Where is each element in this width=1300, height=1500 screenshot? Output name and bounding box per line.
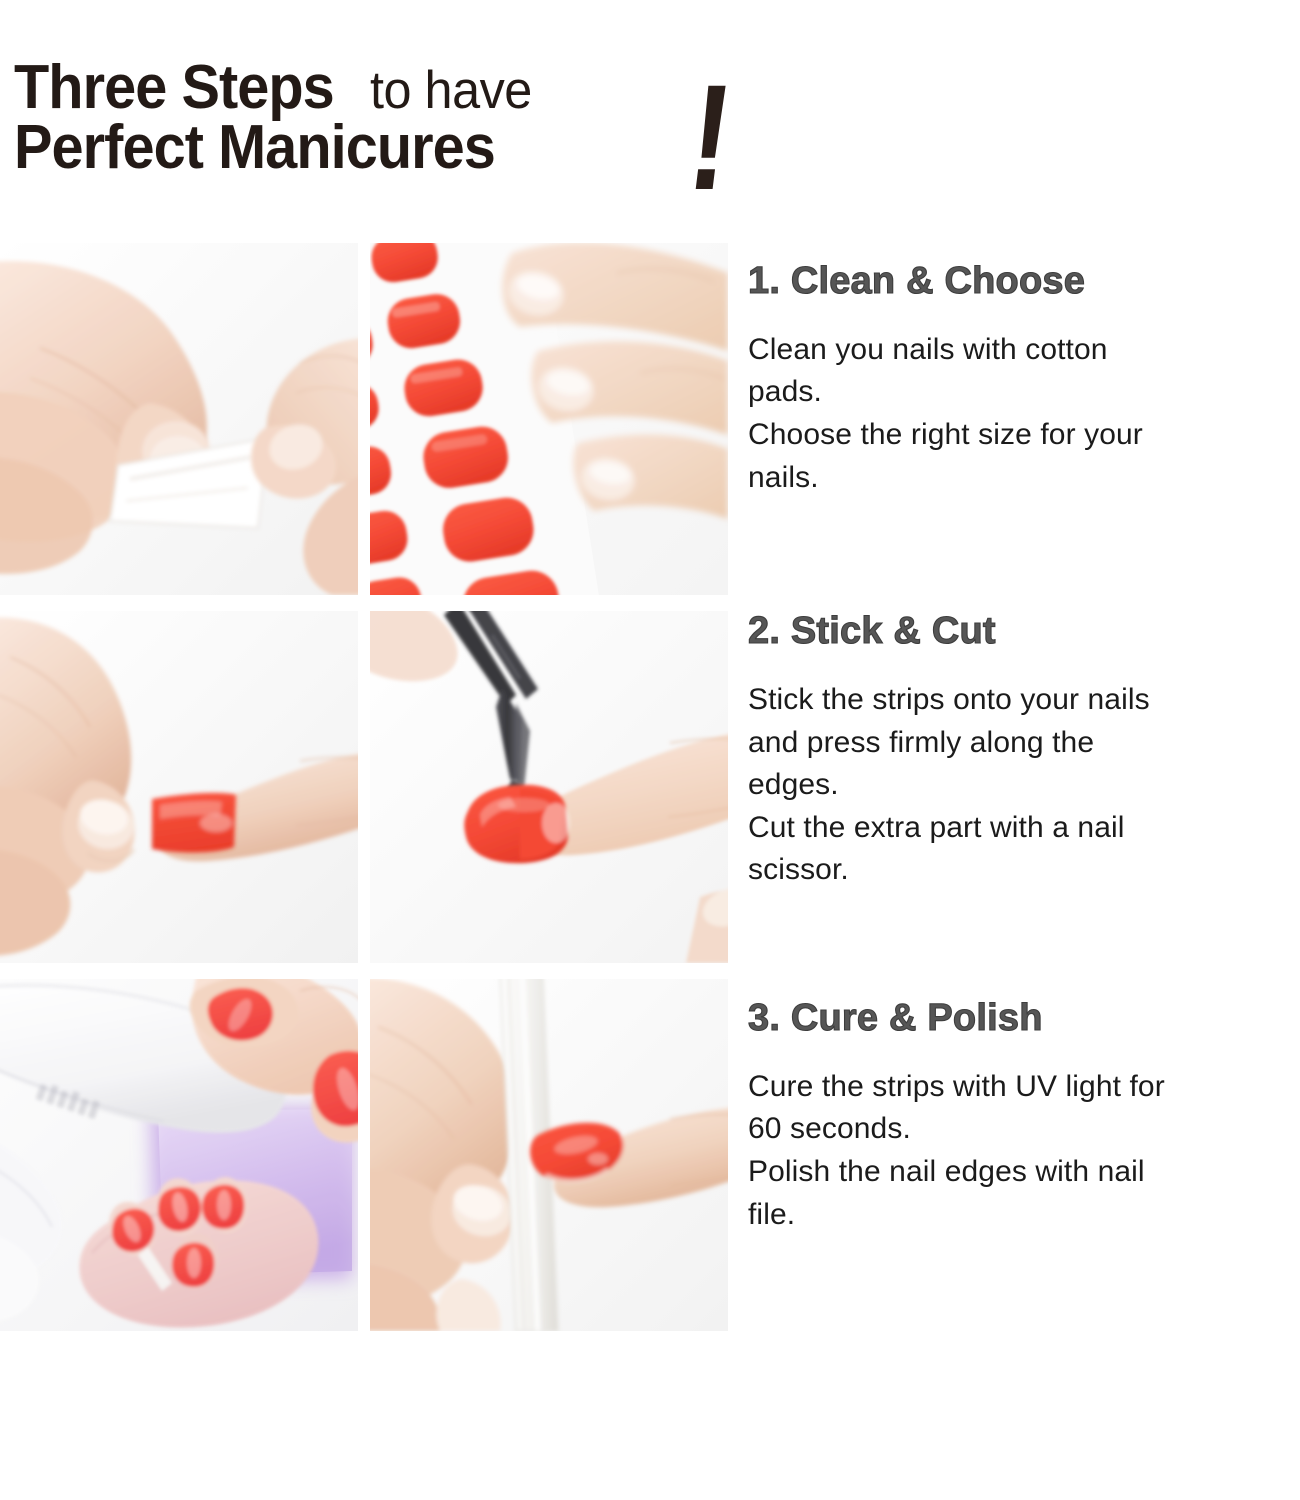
title-line-1: Three Stepsto have (14, 58, 1284, 118)
step-3-body: Cure the strips with UV light for 60 sec… (748, 1066, 1293, 1236)
step-3-heading: 3. Cure & Polish (748, 998, 1293, 1040)
photo-cut-extra-with-scissors (370, 611, 728, 963)
photo-stick-strip-on-nail (0, 611, 358, 963)
step-3-line-4: file. (748, 1194, 1293, 1237)
photo-row-step-1 (0, 243, 728, 595)
title-strong-1: Three Steps (14, 58, 334, 118)
title-strong-2: Perfect Manicures (14, 118, 495, 178)
title-line-2: Perfect Manicures (14, 118, 1284, 178)
step-1-line-3: Choose the right size for your (748, 414, 1293, 457)
photo-grid (0, 243, 728, 1347)
photo-cure-under-uv-lamp (0, 979, 358, 1331)
step-3: 3. Cure & Polish Cure the strips with UV… (748, 998, 1293, 1236)
step-3-line-2: 60 seconds. (748, 1108, 1293, 1151)
step-2-line-4: Cut the extra part with a nail (748, 807, 1293, 850)
photo-row-step-3 (0, 979, 728, 1331)
steps-column: 1. Clean & Choose Clean you nails with c… (748, 243, 1293, 1236)
step-1-heading: 1. Clean & Choose (748, 261, 1293, 303)
step-2: 2. Stick & Cut Stick the strips onto you… (748, 611, 1293, 892)
photo-clean-nail-with-cotton-pad (0, 243, 358, 595)
step-2-body: Stick the strips onto your nails and pre… (748, 679, 1293, 892)
step-3-line-1: Cure the strips with UV light for (748, 1066, 1293, 1109)
photo-nail-strip-sheet-and-hand (370, 243, 728, 595)
page-title: Three Stepsto have Perfect Manicures (14, 58, 1284, 177)
step-3-line-3: Polish the nail edges with nail (748, 1151, 1293, 1194)
step-1-line-4: nails. (748, 457, 1293, 500)
step-2-line-2: and press firmly along the (748, 722, 1293, 765)
photo-polish-edges-with-nail-file (370, 979, 728, 1331)
step-2-heading: 2. Stick & Cut (748, 611, 1293, 653)
step-1: 1. Clean & Choose Clean you nails with c… (748, 261, 1293, 499)
step-1-line-2: pads. (748, 371, 1293, 414)
step-2-line-3: edges. (748, 764, 1293, 807)
step-2-line-1: Stick the strips onto your nails (748, 679, 1293, 722)
title-light-1: to have (370, 66, 532, 117)
photo-row-step-2 (0, 611, 728, 963)
step-1-body: Clean you nails with cotton pads. Choose… (748, 329, 1293, 499)
step-1-line-1: Clean you nails with cotton (748, 329, 1293, 372)
step-2-line-5: scissor. (748, 849, 1293, 892)
